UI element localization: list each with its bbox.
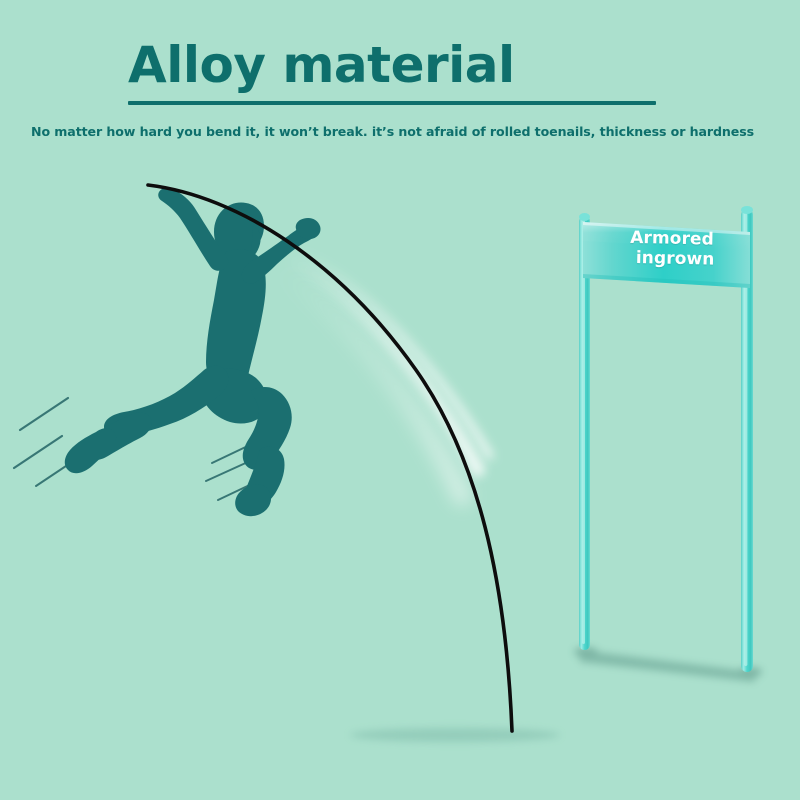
pole-tip-shadow [350, 728, 560, 742]
header-block: Alloy material No matter how hard you be… [0, 0, 800, 160]
title-underline-rule [128, 101, 656, 105]
armored-ingrown-banner [583, 222, 750, 288]
poster-canvas: Armored ingrown Alloy material No matter… [0, 0, 800, 800]
rig-left-pole [579, 213, 590, 650]
page-title: Alloy material [128, 38, 515, 93]
page-subtitle: No matter how hard you bend it, it won’t… [31, 124, 754, 139]
